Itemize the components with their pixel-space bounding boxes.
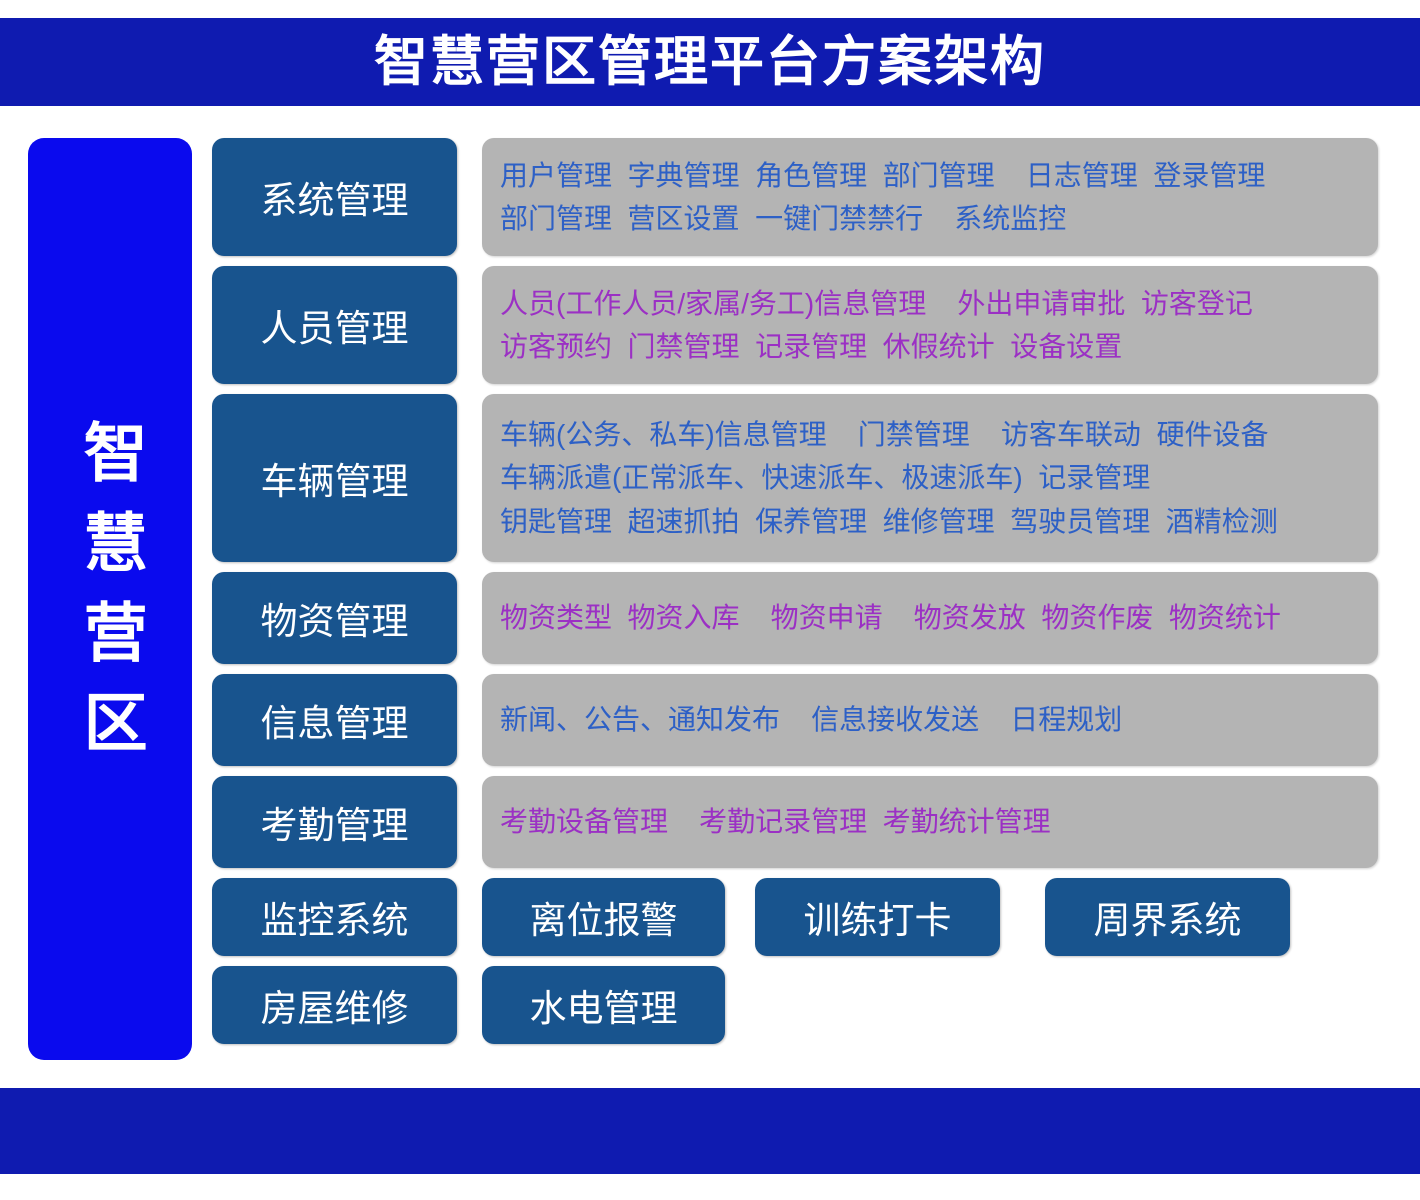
category-pill-personnel[interactable]: 人员管理 xyxy=(212,266,457,384)
detail-line: 考勤设备管理 考勤记录管理 考勤统计管理 xyxy=(500,800,1360,843)
category-label: 人员管理 xyxy=(261,298,409,352)
category-pill-information[interactable]: 信息管理 xyxy=(212,674,457,766)
pill-utilities-management[interactable]: 水电管理 xyxy=(482,966,725,1044)
detail-line: 用户管理 字典管理 角色管理 部门管理 日志管理 登录管理 xyxy=(500,154,1360,197)
pill-absence-alarm[interactable]: 离位报警 xyxy=(482,878,725,956)
architecture-row: 信息管理 新闻、公告、通知发布 信息接收发送 日程规划 xyxy=(0,674,1420,766)
detail-line: 物资类型 物资入库 物资申请 物资发放 物资作废 物资统计 xyxy=(500,596,1360,639)
architecture-row: 人员管理 人员(工作人员/家属/务工)信息管理 外出申请审批 访客登记 访客预约… xyxy=(0,266,1420,384)
detail-panel-vehicle: 车辆(公务、私车)信息管理 门禁管理 访客车联动 硬件设备 车辆派遣(正常派车、… xyxy=(482,394,1378,562)
architecture-rows: 系统管理 用户管理 字典管理 角色管理 部门管理 日志管理 登录管理 部门管理 … xyxy=(0,138,1420,1054)
category-label: 系统管理 xyxy=(261,170,409,224)
architecture-row: 物资管理 物资类型 物资入库 物资申请 物资发放 物资作废 物资统计 xyxy=(0,572,1420,664)
category-label: 物资管理 xyxy=(261,591,409,645)
detail-line: 钥匙管理 超速抓拍 保养管理 维修管理 驾驶员管理 酒精检测 xyxy=(500,500,1360,543)
category-pill-system[interactable]: 系统管理 xyxy=(212,138,457,256)
architecture-row: 车辆管理 车辆(公务、私车)信息管理 门禁管理 访客车联动 硬件设备 车辆派遣(… xyxy=(0,394,1420,562)
category-label: 信息管理 xyxy=(261,693,409,747)
architecture-row: 监控系统 离位报警 训练打卡 周界系统 xyxy=(0,878,1420,956)
category-label: 考勤管理 xyxy=(261,795,409,849)
detail-panel-system: 用户管理 字典管理 角色管理 部门管理 日志管理 登录管理 部门管理 营区设置 … xyxy=(482,138,1378,256)
architecture-row: 房屋维修 水电管理 xyxy=(0,966,1420,1044)
detail-line: 部门管理 营区设置 一键门禁禁行 系统监控 xyxy=(500,197,1360,240)
detail-line: 新闻、公告、通知发布 信息接收发送 日程规划 xyxy=(500,698,1360,741)
page-title: 智慧营区管理平台方案架构 xyxy=(374,35,1046,89)
pill-perimeter-system[interactable]: 周界系统 xyxy=(1045,878,1290,956)
detail-panel-personnel: 人员(工作人员/家属/务工)信息管理 外出申请审批 访客登记 访客预约 门禁管理… xyxy=(482,266,1378,384)
pill-training-checkin[interactable]: 训练打卡 xyxy=(755,878,1000,956)
detail-line: 车辆(公务、私车)信息管理 门禁管理 访客车联动 硬件设备 xyxy=(500,413,1360,456)
category-pill-monitoring[interactable]: 监控系统 xyxy=(212,878,457,956)
pill-label: 离位报警 xyxy=(530,890,678,944)
category-pill-housing-repair[interactable]: 房屋维修 xyxy=(212,966,457,1044)
pill-label: 周界系统 xyxy=(1094,890,1242,944)
detail-line: 人员(工作人员/家属/务工)信息管理 外出申请审批 访客登记 xyxy=(500,282,1360,325)
category-pill-vehicle[interactable]: 车辆管理 xyxy=(212,394,457,562)
pill-label: 水电管理 xyxy=(530,978,678,1032)
detail-line: 车辆派遣(正常派车、快速派车、极速派车) 记录管理 xyxy=(500,456,1360,499)
category-pill-materials[interactable]: 物资管理 xyxy=(212,572,457,664)
architecture-row: 系统管理 用户管理 字典管理 角色管理 部门管理 日志管理 登录管理 部门管理 … xyxy=(0,138,1420,256)
detail-line: 访客预约 门禁管理 记录管理 休假统计 设备设置 xyxy=(500,325,1360,368)
pill-label: 训练打卡 xyxy=(804,890,952,944)
category-label: 车辆管理 xyxy=(261,451,409,505)
detail-panel-materials: 物资类型 物资入库 物资申请 物资发放 物资作废 物资统计 xyxy=(482,572,1378,664)
category-pill-attendance[interactable]: 考勤管理 xyxy=(212,776,457,868)
page-footer-bar xyxy=(0,1088,1420,1174)
architecture-row: 考勤管理 考勤设备管理 考勤记录管理 考勤统计管理 xyxy=(0,776,1420,868)
detail-panel-information: 新闻、公告、通知发布 信息接收发送 日程规划 xyxy=(482,674,1378,766)
category-label: 房屋维修 xyxy=(261,978,409,1032)
page-title-bar: 智慧营区管理平台方案架构 xyxy=(0,18,1420,106)
category-label: 监控系统 xyxy=(261,890,409,944)
detail-panel-attendance: 考勤设备管理 考勤记录管理 考勤统计管理 xyxy=(482,776,1378,868)
